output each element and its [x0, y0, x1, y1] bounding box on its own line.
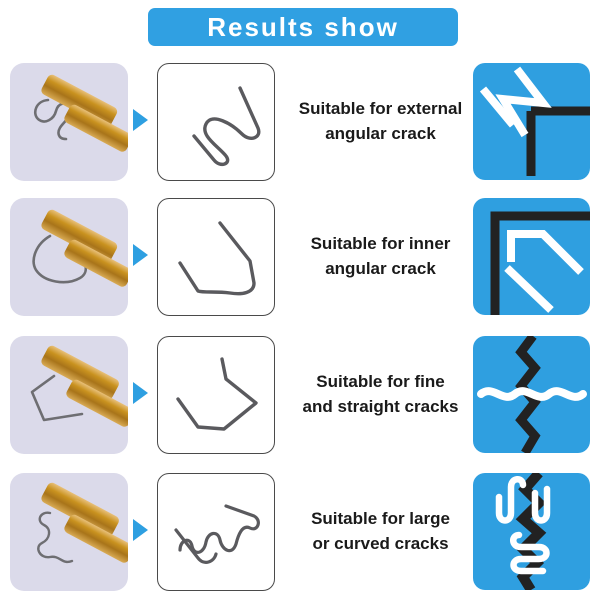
serpentine-wave-staple-icon: [158, 474, 274, 590]
tool-photo-panel: [10, 473, 128, 591]
play-triangle-right-icon: [133, 244, 148, 266]
row-caption: Suitable for fine and straight cracks: [288, 336, 473, 454]
welding-torch-photo-icon: [10, 473, 128, 591]
v-shaped-staple-icon: [158, 337, 274, 453]
welding-torch-photo-icon: [10, 336, 128, 454]
row-caption: Suitable for external angular crack: [288, 63, 473, 181]
crack-illustration-panel: [473, 473, 590, 590]
caption-line-1: Suitable for external: [299, 97, 462, 122]
flow-arrow: [133, 382, 151, 406]
welding-torch-photo-icon: [10, 63, 128, 181]
staple-shape-panel: [157, 198, 275, 316]
large-curved-crack-icon: [473, 473, 590, 590]
staple-shape-panel: [157, 336, 275, 454]
crack-illustration-panel: [473, 336, 590, 453]
crack-illustration-panel: [473, 63, 590, 180]
result-row: Suitable for fine and straight cracks: [0, 330, 600, 465]
row-caption: Suitable for large or curved cracks: [288, 473, 473, 591]
caption-line-1: Suitable for inner: [311, 232, 451, 257]
result-row: Suitable for inner angular crack: [0, 192, 600, 327]
play-triangle-right-icon: [133, 109, 148, 131]
u-shaped-staple-icon: [158, 199, 274, 315]
flow-arrow: [133, 244, 151, 268]
s-wave-staple-icon: [158, 64, 274, 180]
tool-photo-panel: [10, 336, 128, 454]
caption-line-2: angular crack: [325, 257, 436, 282]
straight-zigzag-crack-icon: [473, 336, 590, 453]
staple-shape-panel: [157, 473, 275, 591]
inner-angular-crack-icon: [473, 198, 590, 315]
tool-photo-panel: [10, 63, 128, 181]
result-row: Suitable for external angular crack: [0, 57, 600, 192]
play-triangle-right-icon: [133, 382, 148, 404]
caption-line-1: Suitable for large: [311, 507, 450, 532]
tool-photo-panel: [10, 198, 128, 316]
flow-arrow: [133, 109, 151, 133]
result-row: Suitable for large or curved cracks: [0, 467, 600, 602]
results-show-banner: Results show: [148, 8, 458, 46]
caption-line-2: and straight cracks: [303, 395, 459, 420]
welding-torch-photo-icon: [10, 198, 128, 316]
staple-shape-panel: [157, 63, 275, 181]
caption-line-2: or curved cracks: [312, 532, 448, 557]
flow-arrow: [133, 519, 151, 543]
page-title: Results show: [207, 14, 399, 40]
external-angular-crack-icon: [473, 63, 590, 180]
caption-line-2: angular crack: [325, 122, 436, 147]
caption-line-1: Suitable for fine: [316, 370, 444, 395]
row-caption: Suitable for inner angular crack: [288, 198, 473, 316]
crack-illustration-panel: [473, 198, 590, 315]
play-triangle-right-icon: [133, 519, 148, 541]
